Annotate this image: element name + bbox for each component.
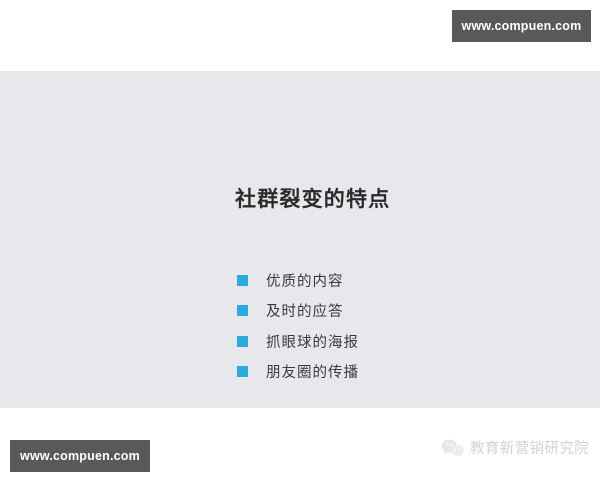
bullet-square-icon (237, 305, 248, 316)
list-item: 及时的应答 (237, 296, 557, 327)
watermark-top: www.compuen.com (452, 10, 591, 42)
bullet-list: 优质的内容 及时的应答 抓眼球的海报 朋友圈的传播 (237, 265, 557, 387)
bullet-square-icon (237, 366, 248, 377)
wechat-account-name: 教育新营销研究院 (470, 437, 589, 458)
wechat-icon (441, 438, 465, 458)
list-item: 优质的内容 (237, 265, 557, 296)
watermark-bottom: www.compuen.com (10, 440, 150, 472)
slide-page: www.compuen.com 社群裂变的特点 优质的内容 及时的应答 抓眼球的… (0, 0, 600, 480)
wechat-account-signature: 教育新营销研究院 (441, 437, 589, 458)
bullet-square-icon (237, 336, 248, 347)
list-item: 抓眼球的海报 (237, 326, 557, 357)
list-item-label: 优质的内容 (266, 270, 344, 291)
list-item-label: 抓眼球的海报 (266, 331, 359, 352)
bullet-square-icon (237, 275, 248, 286)
list-item-label: 朋友圈的传播 (266, 361, 359, 382)
list-item: 朋友圈的传播 (237, 357, 557, 388)
list-item-label: 及时的应答 (266, 300, 344, 321)
watermark-bottom-text: www.compuen.com (20, 449, 140, 463)
watermark-top-text: www.compuen.com (462, 19, 582, 33)
slide-content-panel: 社群裂变的特点 优质的内容 及时的应答 抓眼球的海报 朋友圈的传播 (0, 71, 600, 408)
page-title: 社群裂变的特点 (235, 183, 390, 213)
